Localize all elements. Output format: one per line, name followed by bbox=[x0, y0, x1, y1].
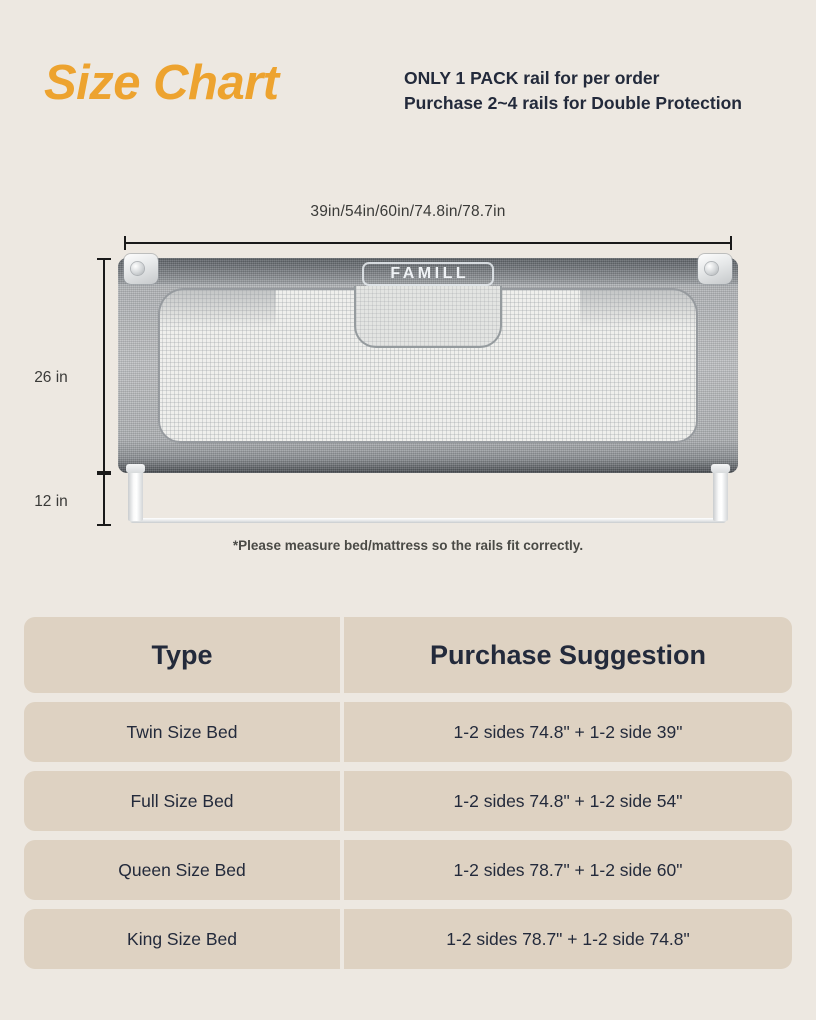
leg-height-dimension-label: 12 in bbox=[15, 493, 87, 511]
page-header: Size Chart ONLY 1 PACK rail for per orde… bbox=[0, 0, 816, 150]
rail-foot-bar bbox=[130, 518, 726, 523]
table-header-type: Type bbox=[24, 617, 340, 693]
dimension-bar bbox=[124, 242, 732, 244]
table-row: King Size Bed 1-2 sides 78.7" + 1-2 side… bbox=[24, 909, 792, 969]
rail-leg-bracket-right bbox=[711, 464, 730, 473]
joint-knob-icon bbox=[131, 262, 144, 275]
table-cell-suggestion: 1-2 sides 78.7" + 1-2 side 74.8" bbox=[344, 909, 792, 969]
table-cell-suggestion: 1-2 sides 74.8" + 1-2 side 54" bbox=[344, 771, 792, 831]
brand-name: FAMILL bbox=[387, 265, 469, 283]
rail-leg-bracket-left bbox=[126, 464, 145, 473]
leg-height-dimension-line bbox=[97, 473, 111, 526]
rail-storage-pocket bbox=[354, 286, 502, 348]
joint-knob-icon bbox=[705, 262, 718, 275]
subheadline-line-1: ONLY 1 PACK rail for per order bbox=[404, 66, 742, 91]
rail-support-leg-left bbox=[128, 469, 143, 521]
product-diagram: 39in/54in/60in/74.8in/78.7in 26 in 12 in bbox=[0, 150, 816, 595]
brand-badge: FAMILL bbox=[362, 262, 494, 286]
mesh-shoulder-left bbox=[158, 288, 276, 328]
table-row: Full Size Bed 1-2 sides 74.8" + 1-2 side… bbox=[24, 771, 792, 831]
page-title: Size Chart bbox=[44, 59, 279, 108]
table-row: Twin Size Bed 1-2 sides 74.8" + 1-2 side… bbox=[24, 702, 792, 762]
table-cell-type: King Size Bed bbox=[24, 909, 340, 969]
table-header-row: Type Purchase Suggestion bbox=[24, 617, 792, 693]
measurement-footnote: *Please measure bed/mattress so the rail… bbox=[0, 538, 816, 553]
height-dimension-line bbox=[97, 258, 111, 473]
dimension-cap-right bbox=[730, 236, 732, 250]
table-header-suggestion: Purchase Suggestion bbox=[344, 617, 792, 693]
table-cell-type: Twin Size Bed bbox=[24, 702, 340, 762]
table-cell-type: Full Size Bed bbox=[24, 771, 340, 831]
dimension-bar bbox=[103, 473, 105, 526]
size-chart-table: Type Purchase Suggestion Twin Size Bed 1… bbox=[24, 617, 792, 978]
dimension-cap-bottom bbox=[97, 524, 111, 526]
bed-rail-illustration: FAMILL bbox=[118, 258, 738, 473]
table-cell-suggestion: 1-2 sides 74.8" + 1-2 side 39" bbox=[344, 702, 792, 762]
table-row: Queen Size Bed 1-2 sides 78.7" + 1-2 sid… bbox=[24, 840, 792, 900]
dimension-bar bbox=[103, 258, 105, 473]
width-dimension-line bbox=[124, 236, 732, 250]
width-dimension-label: 39in/54in/60in/74.8in/78.7in bbox=[0, 203, 816, 221]
rail-fabric-frame: FAMILL bbox=[118, 258, 738, 473]
rail-corner-joint-right bbox=[698, 254, 732, 284]
subheadline-line-2: Purchase 2~4 rails for Double Protection bbox=[404, 91, 742, 116]
header-subheadline: ONLY 1 PACK rail for per order Purchase … bbox=[404, 66, 742, 116]
table-cell-type: Queen Size Bed bbox=[24, 840, 340, 900]
rail-corner-joint-left bbox=[124, 254, 158, 284]
mesh-shoulder-right bbox=[580, 288, 698, 328]
height-dimension-label: 26 in bbox=[15, 369, 87, 387]
rail-support-leg-right bbox=[713, 469, 728, 521]
table-cell-suggestion: 1-2 sides 78.7" + 1-2 side 60" bbox=[344, 840, 792, 900]
